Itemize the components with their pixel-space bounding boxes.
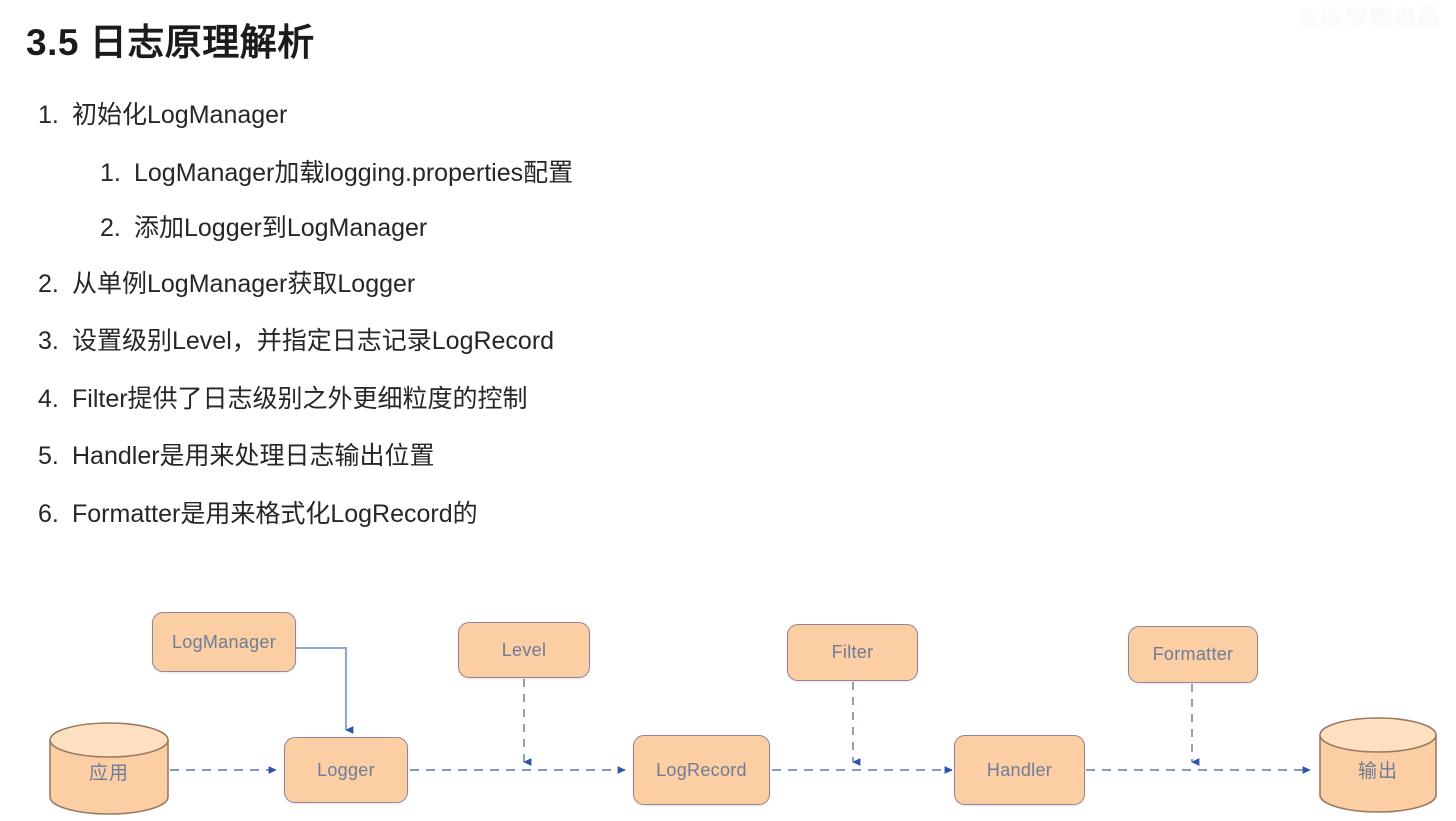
list-item: 3. 设置级别Level，并指定日志记录LogRecord (30, 326, 1030, 358)
list-item-marker: 6. (38, 499, 72, 531)
node-logrecord[interactable]: LogRecord (633, 735, 770, 805)
list-item: 2. 添加Logger到LogManager (30, 213, 1030, 245)
node-level[interactable]: Level (458, 622, 590, 678)
list-item: 6. Formatter是用来格式化LogRecord的 (30, 499, 1030, 531)
node-output-label: 输出 (1320, 756, 1436, 783)
list-item-marker: 3. (38, 326, 72, 358)
node-level-label: Level (502, 640, 547, 661)
list-item-marker: 2. (38, 269, 72, 301)
list-item-label: Handler是用来处理日志输出位置 (72, 441, 435, 473)
page-title: 3.5 日志原理解析 (26, 12, 315, 66)
watermark: 云析学院出品 (1298, 2, 1442, 32)
list-item-label: 从单例LogManager获取Logger (72, 269, 415, 301)
node-logger[interactable]: Logger (284, 737, 408, 803)
node-app-label: 应用 (50, 758, 168, 785)
list-item: 1. 初始化LogManager (30, 100, 1030, 132)
node-filter-label: Filter (832, 642, 874, 663)
node-handler-label: Handler (987, 760, 1052, 781)
node-filter[interactable]: Filter (787, 624, 918, 681)
list-item-marker: 2. (100, 213, 134, 245)
list-item-label: 初始化LogManager (72, 100, 287, 132)
list-item: 5. Handler是用来处理日志输出位置 (30, 441, 1030, 473)
node-formatter-label: Formatter (1153, 644, 1234, 665)
node-logmanager[interactable]: LogManager (152, 612, 296, 672)
list-item-label: Filter提供了日志级别之外更细粒度的控制 (72, 384, 528, 416)
node-logger-label: Logger (317, 760, 375, 781)
list-item-marker: 4. (38, 384, 72, 416)
list-item-marker: 5. (38, 441, 72, 473)
list-item-label: Formatter是用来格式化LogRecord的 (72, 499, 478, 531)
logging-flow-diagram: 应用 输出 LogManager Level Filter Formatter … (0, 580, 1456, 821)
list-item-label: 设置级别Level，并指定日志记录LogRecord (72, 326, 554, 358)
list-item-marker: 1. (100, 158, 134, 190)
list-item: 1. LogManager加载logging.properties配置 (30, 158, 1030, 190)
node-logmanager-label: LogManager (172, 632, 276, 653)
list-item-label: LogManager加载logging.properties配置 (134, 158, 573, 190)
list-item: 2. 从单例LogManager获取Logger (30, 269, 1030, 301)
list-item: 4. Filter提供了日志级别之外更细粒度的控制 (30, 384, 1030, 416)
node-logrecord-label: LogRecord (656, 760, 747, 781)
outline-list: 1. 初始化LogManager 1. LogManager加载logging.… (30, 100, 1030, 556)
edge-logmanager-to-logger (296, 648, 346, 730)
list-item-marker: 1. (38, 100, 72, 132)
node-formatter[interactable]: Formatter (1128, 626, 1258, 683)
node-handler[interactable]: Handler (954, 735, 1085, 805)
list-item-label: 添加Logger到LogManager (134, 213, 427, 245)
